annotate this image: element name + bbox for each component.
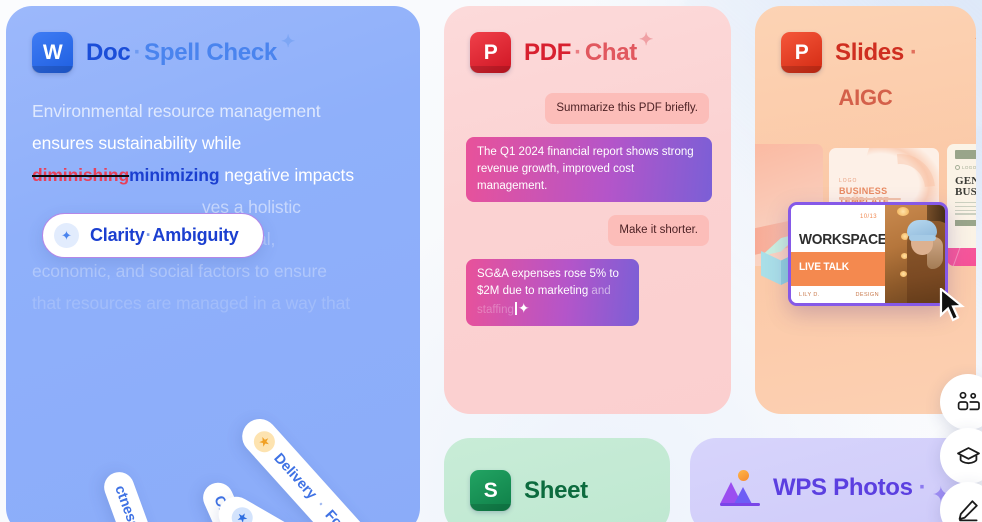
typing-fading-text: and <box>591 285 610 297</box>
star-icon: ★ <box>250 427 280 457</box>
chat-message-ai: The Q1 2024 financial report shows stron… <box>466 137 712 202</box>
doc-card-header: W Doc·Spell Check ✦ <box>6 6 420 73</box>
corrected-word: minimizing <box>129 165 219 185</box>
chat-message-user: Summarize this PDF briefly. <box>545 93 709 124</box>
pill-c-left: Delivery <box>271 450 320 502</box>
sparkle-icon: ✦ <box>639 31 653 48</box>
doc-line-7: that resources are managed in a way that <box>32 287 394 319</box>
chat-message-user: Make it shorter. <box>608 215 709 246</box>
chip-label-separator: · <box>146 225 152 245</box>
text-caret <box>515 302 517 315</box>
wps-photos-icon <box>720 470 760 506</box>
slide-band-label: LIVE TALK <box>799 261 849 273</box>
pdf-card-title: PDF·Chat ✦ <box>524 39 637 67</box>
slides-card-header: P Slides· ✦ <box>755 6 976 73</box>
pdf-title-separator: · <box>574 39 582 66</box>
wps-photos-card[interactable]: WPS Photos· ✦ <box>690 438 976 522</box>
rotated-pill-cloud: ctness·Consistency Clarity·Ambiguity ★ D… <box>6 336 420 522</box>
pdf-icon: P <box>470 32 511 73</box>
pdf-icon-glyph: P <box>484 41 498 65</box>
list-item[interactable]: ctness·Consistency <box>100 468 189 522</box>
doc-card-title: Doc·Spell Check ✦ <box>86 39 277 67</box>
chip-label: Clarity·Ambiguity <box>90 225 239 246</box>
doc-line-2: ensures sustainability while <box>32 127 394 159</box>
doc-title-main: Doc <box>86 39 130 66</box>
pill-c-sep: · <box>313 497 328 511</box>
sparkle-icon: ✦ <box>54 223 79 248</box>
doc-title-separator: · <box>133 39 141 66</box>
photos-icon-sun <box>738 470 749 481</box>
slides-title-main: Slides <box>835 39 904 66</box>
pdf-title-sub: Chat <box>585 39 637 66</box>
slide-photo <box>885 205 945 303</box>
thumbnail-accent-block <box>947 248 976 266</box>
star-icon: ★ <box>228 503 257 522</box>
chip-label-left: Clarity <box>90 225 145 245</box>
chat-thread: Summarize this PDF briefly. The Q1 2024 … <box>444 73 731 326</box>
slide-band: LIVE TALK <box>791 252 885 286</box>
photos-icon-base <box>720 503 760 506</box>
sparkle-icon: ✦ <box>281 33 295 50</box>
slide-title: WORKSPACE <box>799 231 887 248</box>
pdf-chat-card[interactable]: P PDF·Chat ✦ Summarize this PDF briefly.… <box>444 6 731 414</box>
chat-message-ai-typing: SG&A expenses rose 5% to $2M due to mark… <box>466 259 639 326</box>
slide-text-panel: 10/13 WORKSPACE LIVE TALK LILY D. DESIGN <box>791 205 885 303</box>
slides-title-separator: · <box>910 39 918 66</box>
photos-card-title: WPS Photos· <box>773 474 926 502</box>
typing-ghost-text: staffing <box>477 304 514 316</box>
sheet-title-main: Sheet <box>524 477 588 504</box>
list-item[interactable]: ★ Delivery·Formality <box>235 412 393 522</box>
sheet-card[interactable]: S Sheet <box>444 438 670 522</box>
doc-title-sub: Spell Check <box>144 39 277 66</box>
clarity-ambiguity-chip[interactable]: ✦ Clarity·Ambiguity <box>42 213 264 258</box>
powerpoint-slides-icon: P <box>781 32 822 73</box>
pencil-edit-icon <box>956 498 980 522</box>
photo-lamp <box>900 271 907 277</box>
photo-person-beanie <box>907 220 937 238</box>
graduation-cap-icon <box>956 445 981 468</box>
sheet-card-title: Sheet <box>524 477 588 505</box>
slides-icon-glyph: P <box>795 41 809 65</box>
pdf-title-main: PDF <box>524 39 571 66</box>
thumbnail-title: GENERAL BUSINESS <box>955 176 976 198</box>
sheet-icon-glyph: S <box>484 479 498 503</box>
doc-line-6: economic, and social factors to ensure <box>32 255 394 287</box>
sheet-icon: S <box>470 470 511 511</box>
team-icon <box>956 391 980 413</box>
sparkle-icon: ✦ <box>518 300 530 316</box>
thumbnail-text-lines <box>955 202 976 217</box>
cube-left-face <box>761 251 781 285</box>
sparkle-icon: ✦ <box>974 29 976 50</box>
pill-c-right: Formality <box>322 507 377 522</box>
word-doc-icon: W <box>32 32 73 73</box>
slide-footer: LILY D. DESIGN <box>799 292 879 298</box>
thumbnail-logo-text: LOGO <box>962 165 976 170</box>
doc-line-3-correction: diminishingminimizing negative impacts <box>32 159 394 191</box>
strikethrough-word: diminishing <box>32 165 129 185</box>
slides-subtitle: AIGC <box>755 85 976 111</box>
thumbnail-logo-label: LOGO <box>955 165 976 170</box>
slides-card-title: Slides· ✦ <box>835 39 918 67</box>
doc-line-1: Environmental resource management <box>32 95 394 127</box>
doc-line-3-rest: negative impacts <box>224 165 354 185</box>
slide-footer-category: DESIGN <box>856 292 880 298</box>
photos-title-separator: · <box>919 474 927 501</box>
thumbnail-logo-label: LOGO <box>839 178 857 184</box>
word-doc-icon-glyph: W <box>43 41 62 65</box>
slide-thumbnail[interactable]: LOGO GENERAL BUSINESS <box>947 144 976 266</box>
doc-spell-check-card[interactable]: W Doc·Spell Check ✦ Environmental resour… <box>6 6 420 522</box>
app-canvas: W Doc·Spell Check ✦ Environmental resour… <box>0 0 982 522</box>
slide-footer-author: LILY D. <box>799 292 820 298</box>
thumbnail-tag-shape <box>955 220 976 226</box>
slides-aigc-card[interactable]: P Slides· ✦ AIGC LOGO BUSINESS TEMPLATE … <box>755 6 976 414</box>
thumbnail-header-bar <box>955 150 976 159</box>
doc-paragraph: Environmental resource management ensure… <box>6 73 420 319</box>
sheet-card-header: S Sheet <box>444 438 670 511</box>
chip-label-right: Ambiguity <box>152 225 238 245</box>
pdf-card-header: P PDF·Chat ✦ <box>444 6 731 73</box>
photo-lamp <box>897 207 909 216</box>
slide-page-number: 10/13 <box>860 214 877 220</box>
photos-icon-peak-right <box>734 487 752 504</box>
pill-a-left: ctness <box>111 483 142 522</box>
selected-slide-preview[interactable]: 10/13 WORKSPACE LIVE TALK LILY D. DESIGN <box>788 202 948 306</box>
photos-title-main: WPS Photos <box>773 474 913 501</box>
